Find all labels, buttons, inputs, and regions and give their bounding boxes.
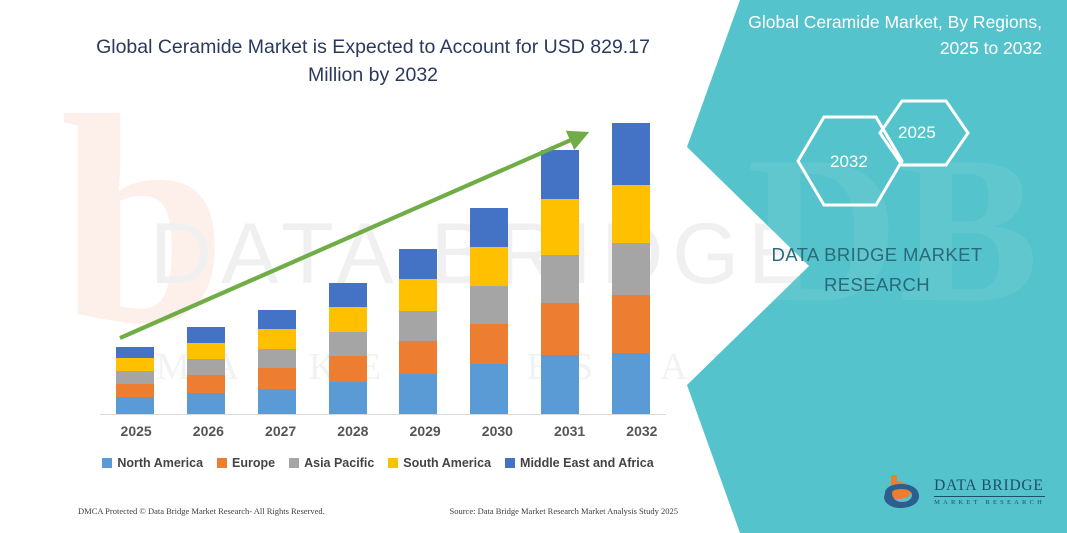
bar-segment <box>187 327 225 343</box>
x-axis-labels: 20252026202720282029203020312032 <box>100 423 678 439</box>
bar-slot <box>171 110 242 414</box>
bar-slot <box>312 110 383 414</box>
x-axis-tick-label: 2028 <box>317 423 389 439</box>
bar-segment <box>258 310 296 329</box>
bar-segment <box>541 199 579 255</box>
bar-segment <box>187 343 225 360</box>
bar-slot <box>383 110 454 414</box>
legend-swatch-icon <box>505 458 515 468</box>
legend-label: Middle East and Africa <box>520 456 654 470</box>
legend-item[interactable]: Europe <box>217 456 275 470</box>
bar-segment <box>470 247 508 286</box>
x-axis-tick-label: 2032 <box>606 423 678 439</box>
bar-segment <box>399 279 437 311</box>
x-axis-tick-label: 2030 <box>461 423 533 439</box>
chart-plot-area <box>100 110 666 415</box>
bar-group <box>100 110 666 414</box>
x-axis-line <box>100 414 666 415</box>
bar-segment <box>612 123 650 185</box>
bar-segment <box>470 324 508 364</box>
bar-segment <box>541 303 579 356</box>
bar-segment <box>470 208 508 247</box>
stacked-bar[interactable] <box>399 249 437 414</box>
bar-segment <box>470 286 508 324</box>
bar-segment <box>116 384 154 398</box>
bar-segment <box>187 393 225 414</box>
stacked-bar[interactable] <box>541 150 579 414</box>
footer: DMCA Protected © Data Bridge Market Rese… <box>78 506 678 516</box>
stacked-bar[interactable] <box>116 347 154 414</box>
x-axis-tick-label: 2027 <box>245 423 317 439</box>
bar-segment <box>258 368 296 389</box>
bar-slot <box>525 110 596 414</box>
x-axis-tick-label: 2026 <box>172 423 244 439</box>
bar-slot <box>595 110 666 414</box>
bar-segment <box>329 332 367 356</box>
bar-segment <box>258 349 296 368</box>
bar-segment <box>187 375 225 393</box>
bar-segment <box>116 347 154 359</box>
bar-segment <box>116 358 154 371</box>
legend-item[interactable]: Middle East and Africa <box>505 456 654 470</box>
bar-segment <box>116 397 154 414</box>
page-title: Global Ceramide Market is Expected to Ac… <box>78 33 668 89</box>
bar-segment <box>612 295 650 353</box>
legend-swatch-icon <box>102 458 112 468</box>
stacked-bar[interactable] <box>258 310 296 414</box>
bar-segment <box>116 371 154 384</box>
footer-source: Source: Data Bridge Market Research Mark… <box>449 506 678 516</box>
bar-segment <box>612 353 650 414</box>
legend-label: North America <box>117 456 203 470</box>
legend-swatch-icon <box>289 458 299 468</box>
stacked-bar[interactable] <box>187 327 225 414</box>
legend-item[interactable]: North America <box>102 456 203 470</box>
legend-label: Asia Pacific <box>304 456 374 470</box>
footer-copyright: DMCA Protected © Data Bridge Market Rese… <box>78 506 325 516</box>
bar-segment <box>612 243 650 296</box>
stacked-bar[interactable] <box>612 123 650 414</box>
bar-segment <box>399 249 437 280</box>
bar-segment <box>329 356 367 382</box>
bar-segment <box>470 364 508 414</box>
bar-segment <box>541 255 579 302</box>
legend-swatch-icon <box>388 458 398 468</box>
bar-segment <box>541 355 579 414</box>
x-axis-tick-label: 2031 <box>534 423 606 439</box>
bar-segment <box>329 382 367 414</box>
bar-segment <box>541 150 579 199</box>
infographic-root: b DATA BRIDGE MARKET RESEARCH Global Cer… <box>0 0 1067 533</box>
legend-label: South America <box>403 456 491 470</box>
x-axis-tick-label: 2029 <box>389 423 461 439</box>
bar-segment <box>399 374 437 414</box>
bar-segment <box>258 329 296 349</box>
stacked-bar[interactable] <box>329 283 367 414</box>
bar-segment <box>329 283 367 307</box>
chart-legend: North AmericaEuropeAsia PacificSouth Ame… <box>78 456 678 470</box>
stacked-bar[interactable] <box>470 208 508 414</box>
bar-segment <box>399 341 437 374</box>
legend-swatch-icon <box>217 458 227 468</box>
legend-item[interactable]: South America <box>388 456 491 470</box>
bar-slot <box>454 110 525 414</box>
bar-segment <box>612 185 650 243</box>
teal-panel-shape <box>687 0 1067 533</box>
bar-segment <box>187 359 225 375</box>
bar-segment <box>399 311 437 342</box>
bar-slot <box>100 110 171 414</box>
bar-segment <box>258 389 296 414</box>
legend-item[interactable]: Asia Pacific <box>289 456 374 470</box>
bar-segment <box>329 307 367 332</box>
x-axis-tick-label: 2025 <box>100 423 172 439</box>
stacked-bar-chart <box>78 110 678 415</box>
legend-label: Europe <box>232 456 275 470</box>
bar-slot <box>242 110 313 414</box>
